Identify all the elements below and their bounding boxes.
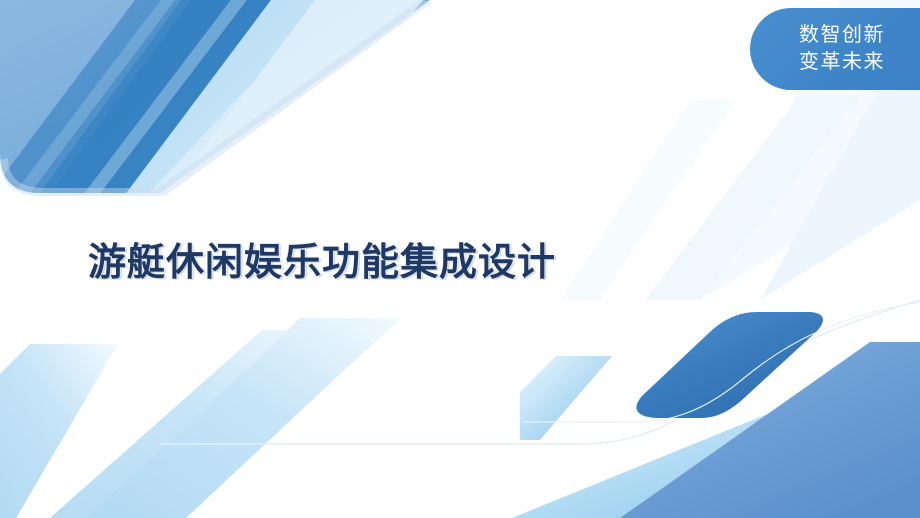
- corner-ribbon-badge: 数智创新 变革未来: [750, 8, 920, 90]
- bottom-right-pale-wedge: [450, 386, 896, 518]
- bottom-center-pale-sweep: [0, 312, 470, 518]
- slide-canvas: 数智创新 变革未来 游艇休闲娱乐功能集成设计: [0, 0, 920, 518]
- bottom-left-ribbon-real: [46, 308, 640, 518]
- pale-sweep-plateau: [118, 320, 404, 518]
- badge-line-2: 变革未来: [799, 49, 885, 76]
- badge-line-1: 数智创新: [799, 22, 885, 49]
- bottom-right-pale-wedge-left: [520, 344, 700, 440]
- top-left-panel-group: [0, 0, 440, 220]
- bottom-hairline-sweep: [160, 300, 920, 444]
- bottom-left-pale-shapes: [0, 330, 420, 518]
- panel-edge-shadow: [0, 0, 432, 196]
- bottom-right-deep-parallelogram: [636, 312, 823, 418]
- bottom-left-parallelograms: [86, 316, 560, 518]
- top-left-outer-sliver: [150, 0, 432, 192]
- bottom-mid-sweep: [200, 318, 524, 518]
- bottom-left-long-band: [22, 316, 540, 518]
- bottom-right-large-wedge: [620, 342, 920, 518]
- bottom-left-big-arrow: [0, 318, 560, 518]
- slide-title: 游艇休闲娱乐功能集成设计: [88, 231, 556, 286]
- bottom-right-hairline: [524, 302, 920, 422]
